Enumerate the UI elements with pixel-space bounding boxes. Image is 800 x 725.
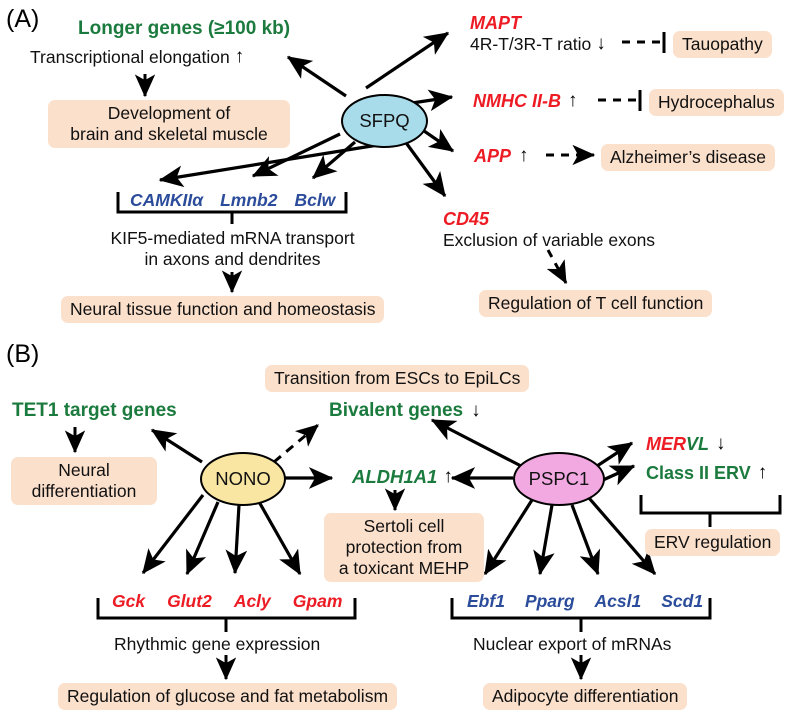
hydrocephalus-box: Hydrocephalus [649, 89, 784, 116]
nono-label: NONO [215, 468, 271, 490]
gene-bclw: Bclw [294, 190, 335, 211]
mapt-inhibition-link [622, 32, 664, 53]
sertoli-line3: a toxicant MEHP [333, 558, 475, 579]
tauopathy-box: Tauopathy [673, 31, 772, 58]
esc-epilc-transition-box: Transition from ESCs to EpiLCs [265, 365, 529, 392]
up-arrow-icon: ↑ [758, 462, 768, 484]
transcriptional-elongation-label: Transcriptional elongation ↑ [30, 46, 244, 68]
panel-b-label: (B) [6, 340, 39, 369]
neural-differentiation-box: Neural differentiation [11, 457, 157, 505]
nmhc2b-inhibition-link [598, 90, 640, 111]
app-row: APP ↑ [474, 145, 529, 167]
bivalent-genes-row: Bivalent genes ↓ [329, 400, 481, 422]
alzheimers-box: Alzheimer’s disease [601, 144, 775, 171]
up-arrow-icon: ↑ [443, 466, 453, 488]
gene-camk2a: CAMKIIα [130, 190, 203, 211]
gene-lmnb2: Lmnb2 [220, 190, 277, 211]
transcriptional-elongation-text: Transcriptional elongation [30, 47, 230, 68]
down-arrow-icon: ↓ [716, 433, 726, 455]
pspc1-node[interactable]: PSPC1 [513, 452, 605, 506]
nmhc2b-gene-label: NMHC II-B [473, 91, 561, 112]
panelA-gene-list: CAMKIIα Lmnb2 Bclw [130, 190, 335, 211]
sertoli-protection-box: Sertoli cell protection from a toxicant … [324, 513, 484, 582]
nmhc2b-row: NMHC II-B ↑ [473, 90, 578, 112]
gene-scd1: Scd1 [661, 591, 703, 612]
gene-ebf1: Ebf1 [467, 591, 505, 612]
neural-diff-line2: differentiation [20, 481, 148, 502]
up-arrow-icon: ↑ [519, 145, 529, 167]
rhythmic-expression-text: Rhythmic gene expression [114, 634, 320, 655]
kif5-transport-text: KIF5-mediated mRNA transport in axons an… [90, 228, 375, 270]
pspc1-label: PSPC1 [529, 468, 590, 490]
mapt-effect-text: 4R-T/3R-T ratio [470, 34, 591, 55]
sertoli-line1: Sertoli cell [333, 516, 475, 537]
figure-canvas: (A) Longer genes (≥100 kb) Transcription… [0, 0, 800, 725]
up-arrow-icon: ↑ [568, 90, 578, 112]
gene-gpam: Gpam [293, 591, 343, 612]
gene-gck: Gck [112, 591, 145, 612]
kif5-line2: in axons and dendrites [90, 249, 375, 270]
sfpq-node[interactable]: SFPQ [341, 94, 428, 148]
development-box: Development of brain and skeletal muscle [48, 100, 290, 148]
nuclear-export-text: Nuclear export of mRNAs [473, 634, 671, 655]
gene-acly: Acly [234, 591, 271, 612]
rhythmic-gene-list: Gck Glut2 Acly Gpam [112, 591, 342, 612]
app-gene-label: APP [474, 146, 511, 167]
down-arrow-icon: ↓ [471, 400, 481, 422]
tcell-regulation-box: Regulation of T cell function [479, 290, 712, 317]
kif5-line1: KIF5-mediated mRNA transport [90, 228, 375, 249]
adipocyte-differentiation-box: Adipocyte differentiation [483, 683, 687, 710]
development-line1: Development of [57, 103, 281, 124]
up-arrow-icon: ↑ [235, 46, 245, 68]
nono-to-bivalent-dashed-arrow [274, 425, 318, 462]
mapt-gene-label: MAPT [470, 13, 521, 34]
mervl-row: MER VL ↓ [646, 433, 726, 455]
longer-genes-heading: Longer genes (≥100 kb) [78, 18, 290, 40]
class2-erv-row: Class II ERV ↑ [646, 462, 767, 484]
cd45-gene-label: CD45 [443, 209, 489, 230]
erv-bracket [641, 495, 780, 527]
neural-homeostasis-box: Neural tissue function and homeostasis [61, 296, 384, 323]
bivalent-genes-label: Bivalent genes [329, 400, 463, 422]
sertoli-line2: protection from [333, 537, 475, 558]
mervl-prefix-label: MER [646, 434, 686, 455]
cd45-effect-text: Exclusion of variable exons [443, 230, 655, 251]
aldh1a1-row: ALDH1A1 ↑ [352, 466, 453, 488]
neural-diff-line1: Neural [20, 460, 148, 481]
cd45-to-tcell-arrow [548, 250, 566, 283]
adipocyte-gene-list: Ebf1 Pparg Acsl1 Scd1 [467, 591, 703, 612]
development-line2: brain and skeletal muscle [57, 124, 281, 145]
down-arrow-icon: ↓ [596, 33, 606, 55]
gene-glut2: Glut2 [167, 591, 212, 612]
mervl-suffix-label: VL [686, 434, 709, 455]
panel-a-label: (A) [6, 5, 39, 34]
nono-node[interactable]: NONO [200, 452, 286, 506]
mapt-effect-row: 4R-T/3R-T ratio ↓ [470, 33, 606, 55]
sfpq-label: SFPQ [359, 110, 409, 132]
tet1-target-genes-label: TET1 target genes [12, 400, 177, 422]
glucose-fat-metabolism-box: Regulation of glucose and fat metabolism [58, 683, 397, 710]
aldh1a1-gene-label: ALDH1A1 [352, 466, 437, 488]
erv-regulation-box: ERV regulation [645, 529, 780, 556]
gene-acsl1: Acsl1 [595, 591, 642, 612]
gene-pparg: Pparg [525, 591, 575, 612]
class2-erv-label: Class II ERV [646, 463, 751, 484]
